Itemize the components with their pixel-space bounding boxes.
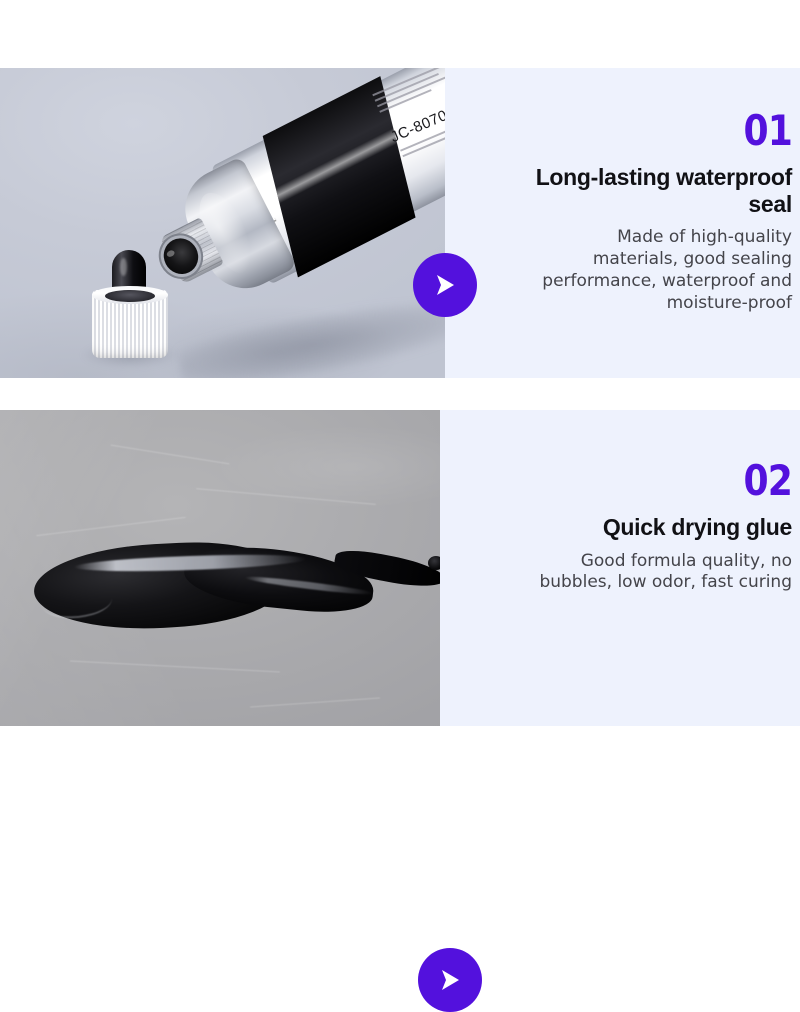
feature-2-title: Quick drying glue — [532, 514, 792, 541]
play-icon — [439, 968, 461, 992]
feature-1-description: Made of high-quality materials, good sea… — [532, 227, 792, 314]
feature-panel-1: JIE JC-8070 — [0, 68, 800, 378]
feature-1-title: Long-lasting waterproof seal — [532, 164, 792, 217]
brand-band-gloss — [276, 128, 398, 204]
feature-2-text-column: 02 Quick drying glue Good formula qualit… — [532, 460, 792, 594]
glue-bead — [34, 520, 434, 660]
feature-2-photo — [0, 410, 440, 726]
feature-1-text-column: 01 Long-lasting waterproof seal Made of … — [532, 110, 792, 314]
product-feature-infographic: JIE JC-8070 — [0, 0, 800, 800]
feature-1-number: 01 — [568, 110, 792, 152]
glue-tube-cap — [92, 250, 168, 358]
feature-panel-2: 02 Quick drying glue Good formula qualit… — [0, 410, 800, 726]
feature-2-description: Good formula quality, no bubbles, low od… — [532, 551, 792, 595]
play-icon — [434, 273, 456, 297]
cap-opening — [105, 290, 155, 302]
feature-2-number: 02 — [568, 460, 792, 502]
play-button-2[interactable] — [418, 948, 482, 1012]
feature-1-photo: JIE JC-8070 — [0, 68, 445, 378]
glue-bead-tip-knot — [428, 556, 440, 570]
play-button-1[interactable] — [413, 253, 477, 317]
